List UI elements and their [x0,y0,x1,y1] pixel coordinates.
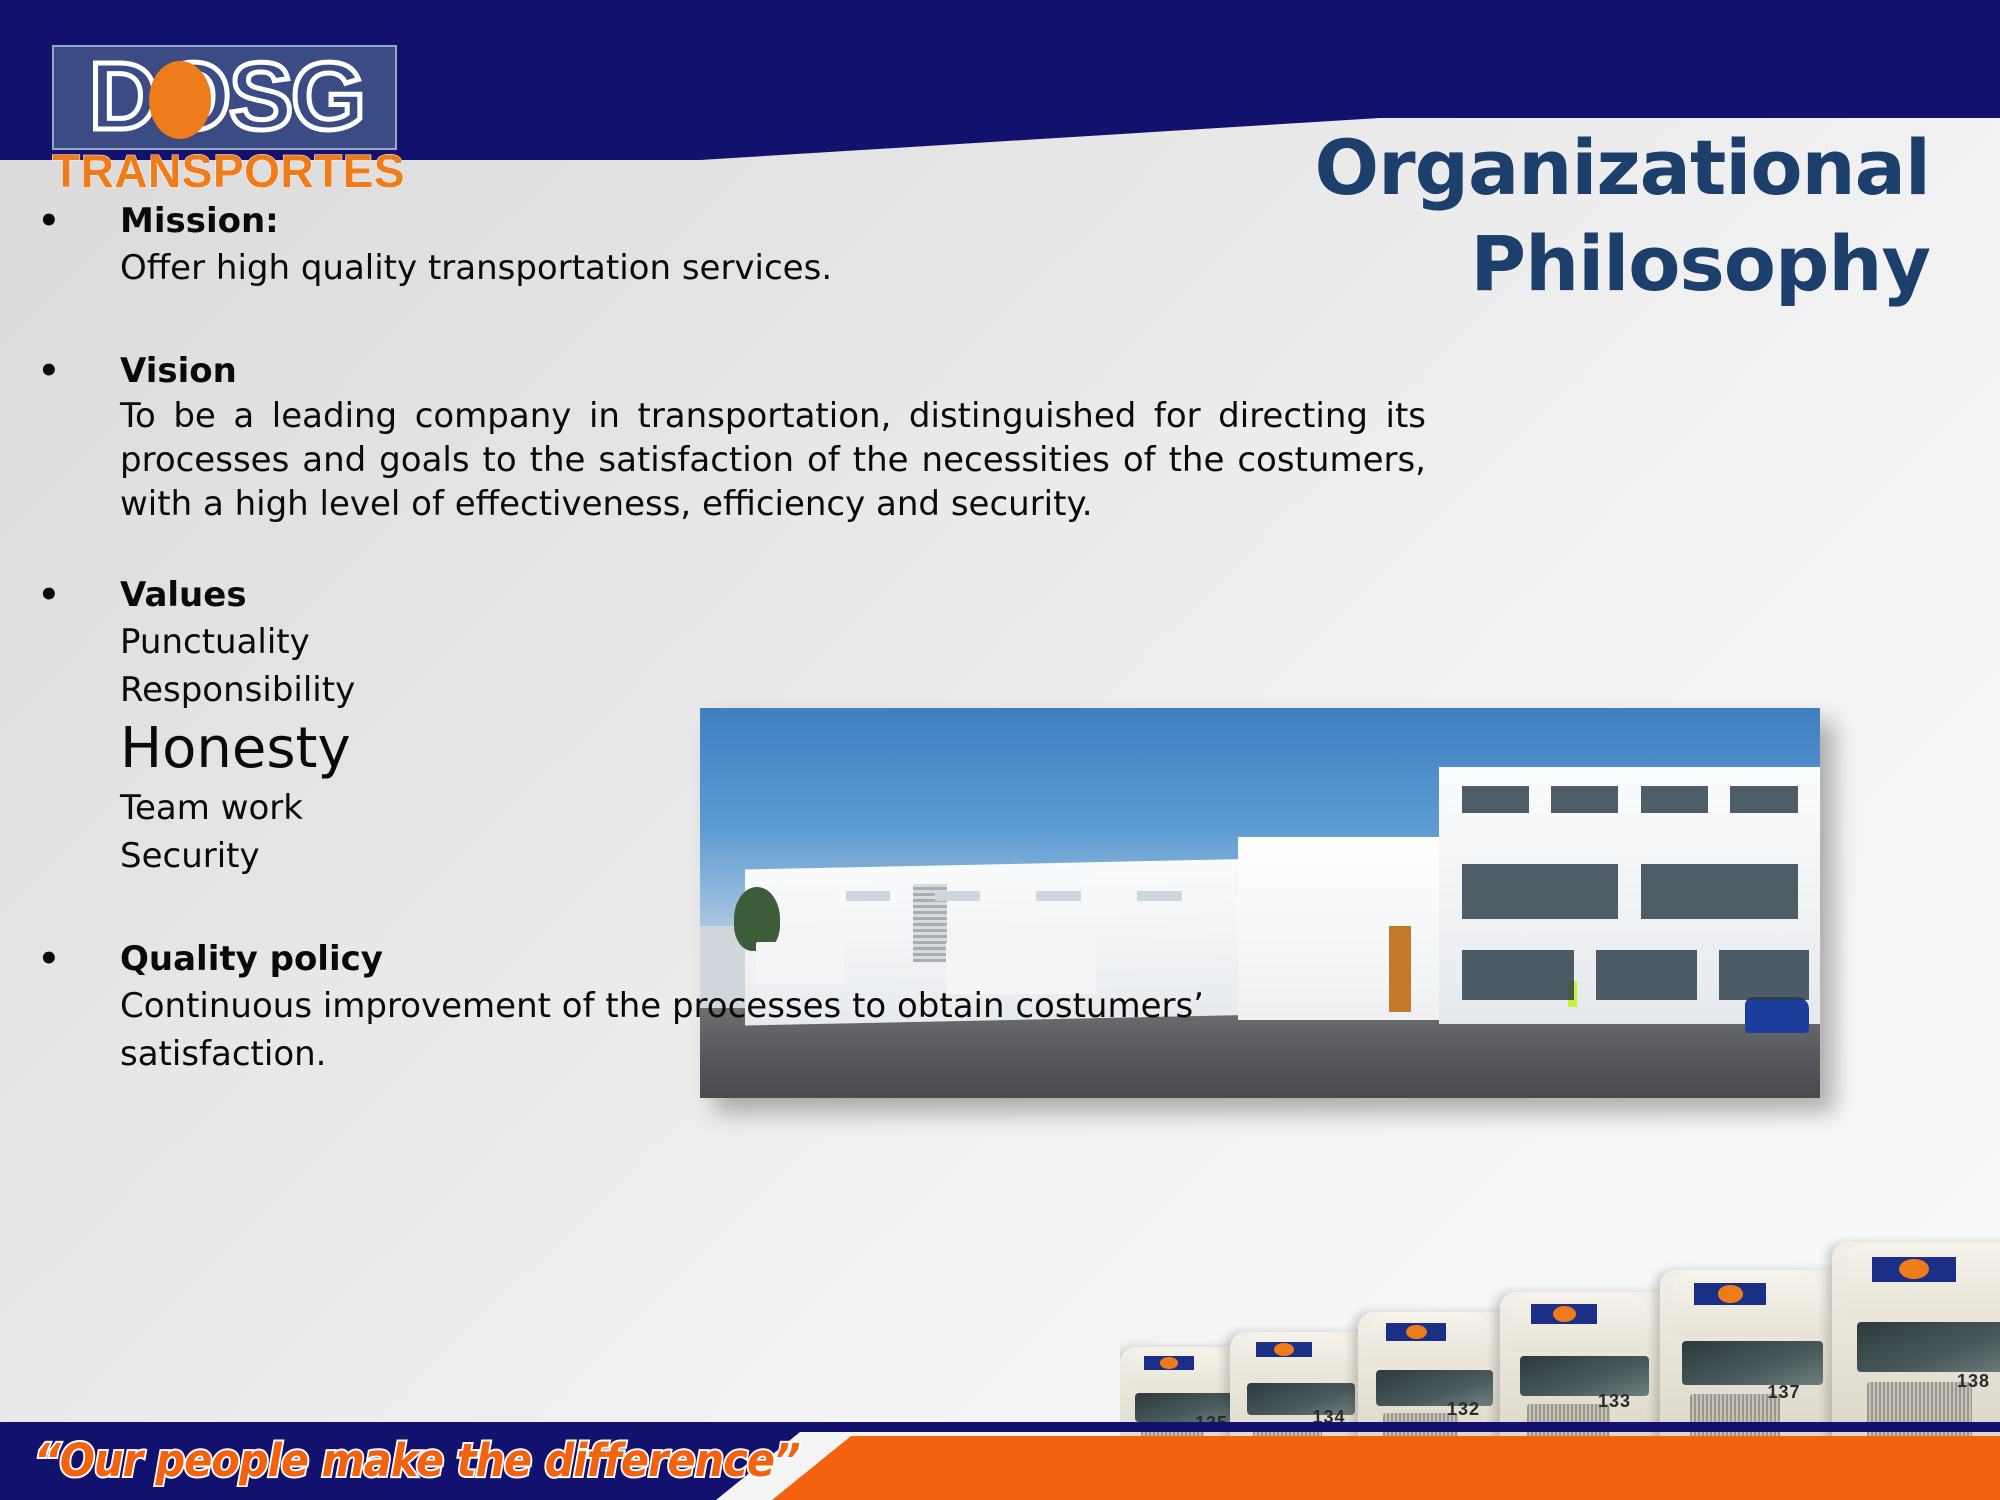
quality-policy-heading-row: • Quality policy [38,936,1438,982]
dosg-logo: DOSG TRANSPORTES [52,45,397,200]
vision-heading-row: • Vision [38,348,1438,394]
page-title-line1: Organizational [930,120,1930,216]
truck-logo-icon [1386,1323,1482,1352]
block-values: • Values Punctuality Responsibility Hone… [38,572,1438,880]
truck-number: 138 [1957,1371,1990,1392]
vision-text: To be a leading company in transportatio… [38,394,1438,526]
values-item-responsibility: Responsibility [38,666,1438,714]
mission-heading: Mission: [120,201,279,241]
truck-number: 137 [1768,1382,1801,1403]
spacer [38,526,1438,572]
truck-logo-icon [1256,1342,1345,1368]
photo-blue-car [1745,997,1809,1033]
values-item-security: Security [38,832,1438,880]
values-item-honesty: Honesty [38,714,1438,784]
truck-windshield [1682,1341,1824,1385]
photo-window [1641,786,1708,813]
page-title-line2: Philosophy [930,216,1930,312]
truck-logo-icon [1531,1304,1637,1336]
photo-window [1730,786,1797,813]
page-title: Organizational Philosophy [930,120,1930,312]
quality-policy-text: Continuous improvement of the processes … [38,982,1230,1078]
slide-body: • Mission: Offer high quality transporta… [38,198,1438,1078]
footer-tagline: “Our people make the difference” [34,1430,800,1492]
truck-windshield [1520,1356,1649,1396]
values-item-punctuality: Punctuality [38,618,1438,666]
photo-window [1462,786,1529,813]
truck-number: 133 [1598,1391,1631,1412]
values-heading: Values [120,575,247,615]
truck-logo-icon [1872,1257,2000,1297]
photo-window [1551,786,1618,813]
slide-canvas: DOSG TRANSPORTES Organizational Philosop… [0,0,2000,1500]
photo-window [1462,864,1619,919]
values-item-teamwork: Team work [38,784,1438,832]
logo-box: DOSG [52,45,397,150]
photo-window [1462,950,1574,1001]
bullet-marker-icon: • [38,572,78,618]
truck-logo-icon [1144,1356,1225,1379]
logo-subtitle: TRANSPORTES [52,144,397,198]
truck-windshield [1857,1322,2000,1372]
block-vision: • Vision To be a leading company in tran… [38,348,1438,526]
vision-heading: Vision [120,351,237,391]
logo-wordmark: DOSG [54,38,399,156]
truck-logo-icon [1694,1283,1810,1319]
header-navy-band-right [1380,0,2000,118]
bullet-marker-icon: • [38,348,78,394]
bullet-marker-icon: • [38,936,78,982]
block-quality-policy: • Quality policy Continuous improvement … [38,936,1438,1078]
photo-window [1719,950,1809,1001]
logo-orange-circle-icon [149,61,211,139]
bullet-marker-icon: • [38,198,78,244]
photo-window [1596,950,1697,1001]
photo-window [1641,864,1798,919]
footer-banner: “Our people make the difference” [0,1422,2000,1500]
quality-policy-heading: Quality policy [120,939,383,979]
values-heading-row: • Values [38,572,1438,618]
spacer [38,880,1438,936]
truck-number: 132 [1447,1399,1480,1420]
